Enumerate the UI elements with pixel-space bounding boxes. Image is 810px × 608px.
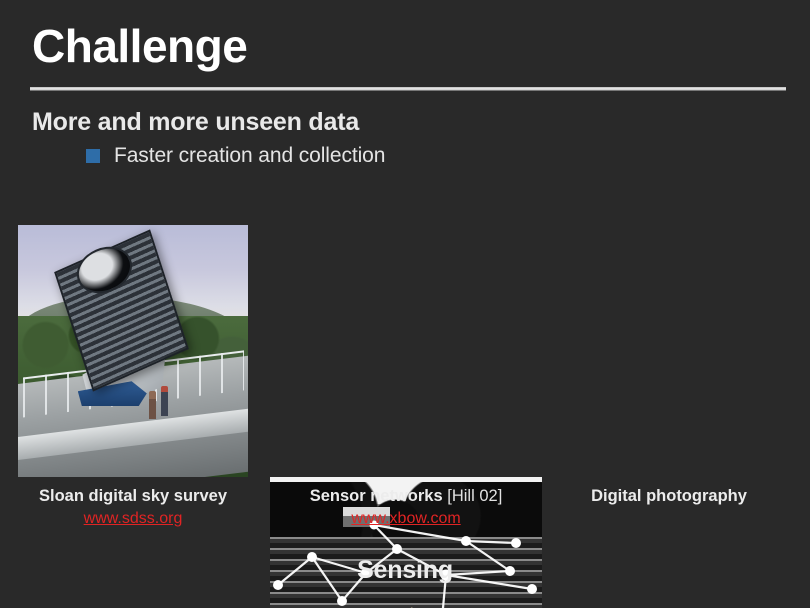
slide-footer-label: Sensing [0,556,810,585]
figure-link-xbow[interactable]: www.xbow.com [270,510,542,528]
presentation-slide: Challenge More and more unseen data Fast… [0,0,810,608]
figure-caption-sensor-citation: [Hill 02] [443,487,503,505]
figure-caption-digital-photography: Digital photography [548,487,790,506]
bullet-level2: Faster creation and collection [86,144,385,168]
person-figure [161,386,168,416]
figure-caption-sensor-text: Sensor networks [310,487,443,505]
figure-caption-sensor-networks: Sensor networks [Hill 02] [270,487,542,506]
square-bullet-icon [86,149,100,163]
title-divider [30,87,786,91]
page-title: Challenge [32,22,247,70]
figure-caption-photography-text: Digital photography [591,487,747,505]
figure-caption-sloan: Sloan digital sky survey [18,487,248,506]
figure-caption-sloan-text: Sloan digital sky survey [39,487,227,505]
person-figure [149,391,156,419]
bullet-level2-text: Faster creation and collection [114,144,385,168]
bullet-level1-text: More and more unseen data [32,108,359,137]
figure-sloan-sky-survey-image [18,225,248,477]
figure-link-sdss[interactable]: www.sdss.org [18,510,248,528]
